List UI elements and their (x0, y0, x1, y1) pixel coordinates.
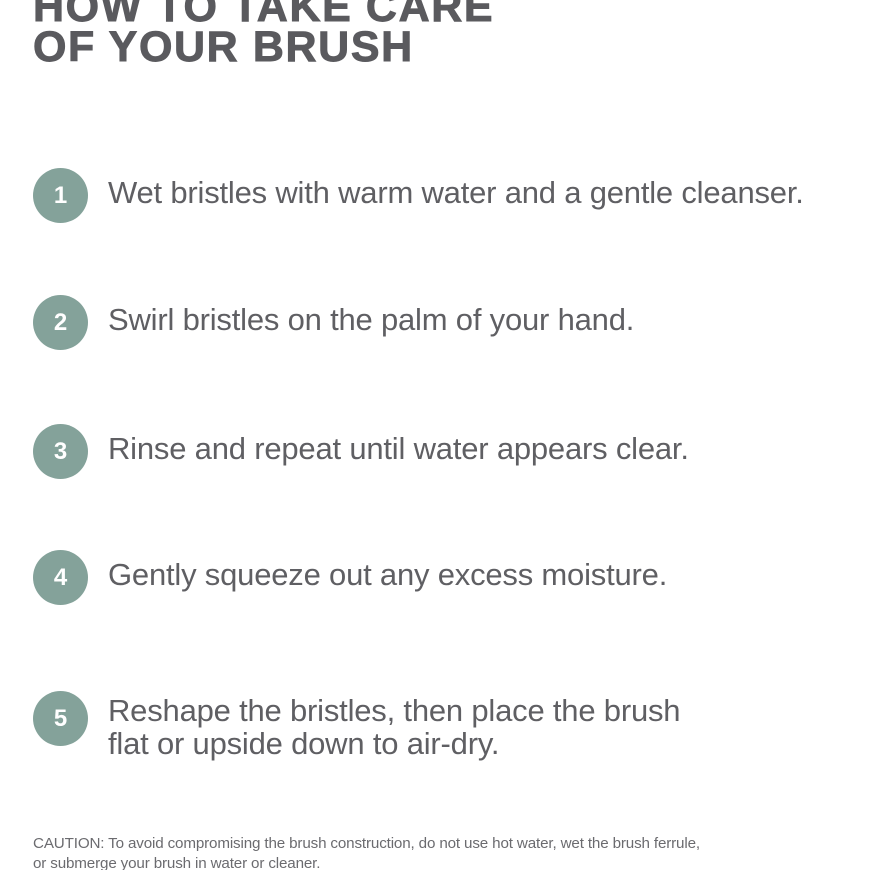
step-instruction-text: Swirl bristles on the palm of your hand. (108, 295, 634, 336)
list-item: 5 Reshape the bristles, then place the b… (33, 691, 853, 760)
caution-note: CAUTION: To avoid compromising the brush… (33, 834, 845, 870)
step-number-badge: 4 (33, 550, 88, 605)
step-number-badge: 1 (33, 168, 88, 223)
page-title-line-2: OF YOUR BRUSH (33, 27, 833, 67)
list-item: 4 Gently squeeze out any excess moisture… (33, 550, 853, 605)
step-instruction-text: Wet bristles with warm water and a gentl… (108, 168, 804, 209)
step-instruction-text: Reshape the bristles, then place the bru… (108, 691, 680, 760)
step-instruction-text: Rinse and repeat until water appears cle… (108, 424, 689, 465)
list-item: 1 Wet bristles with warm water and a gen… (33, 168, 853, 223)
step-number-badge: 2 (33, 295, 88, 350)
page-title: HOW TO TAKE CARE OF YOUR BRUSH (33, 0, 833, 67)
step-number-badge: 3 (33, 424, 88, 479)
list-item: 3 Rinse and repeat until water appears c… (33, 424, 853, 479)
list-item: 2 Swirl bristles on the palm of your han… (33, 295, 853, 350)
step-number-badge: 5 (33, 691, 88, 746)
care-instructions-page: HOW TO TAKE CARE OF YOUR BRUSH 1 Wet bri… (0, 0, 870, 870)
step-instruction-text: Gently squeeze out any excess moisture. (108, 550, 667, 591)
